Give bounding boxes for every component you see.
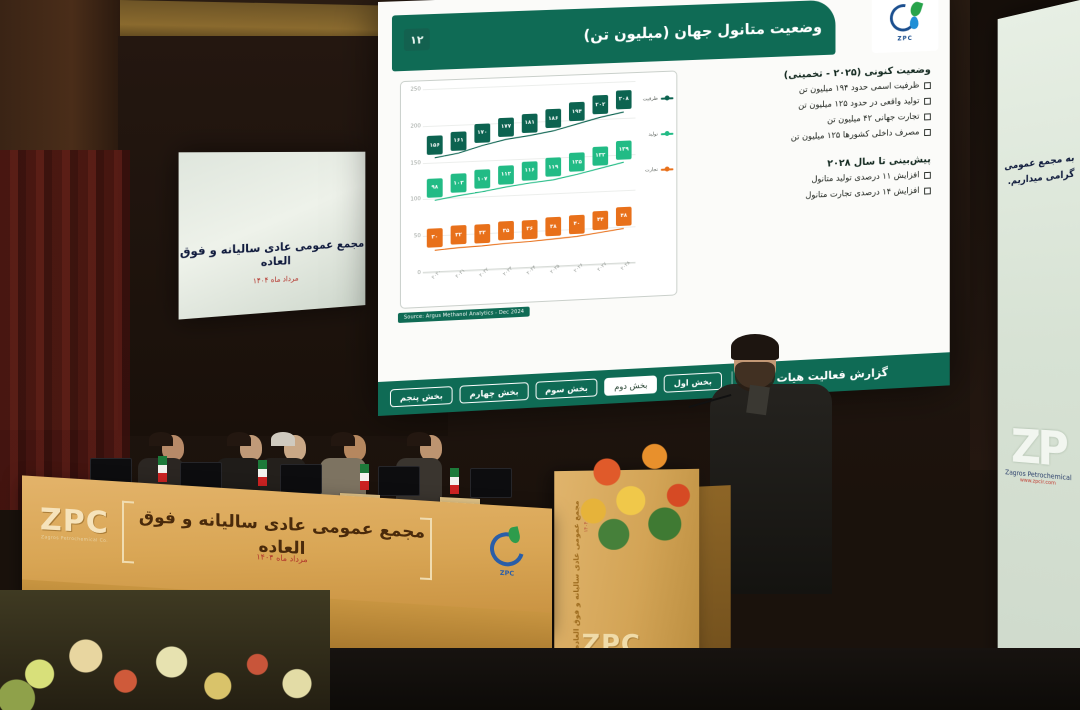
- desk-flag: [158, 456, 167, 482]
- chart-source-note: Source: Argus Methanol Analytics - Dec 2…: [398, 307, 530, 323]
- left-screen-title: مجمع عمومی عادی سالیانه و فوق العاده: [179, 236, 366, 274]
- bullet-text: تجارت جهانی ۴۲ میلیون تن: [827, 112, 919, 127]
- chart-data-label: ۱۸۶: [545, 109, 561, 128]
- chart-data-label: ۴۸: [616, 206, 632, 225]
- panel-monitor: [280, 464, 322, 494]
- chart-data-label: ۱۶۱: [451, 131, 467, 151]
- slide-title: وضعیت متانول جهان (میلیون تن): [584, 17, 823, 47]
- tab-4[interactable]: بخش دوم: [604, 375, 657, 396]
- chart-data-label: ۱۱۹: [545, 158, 561, 178]
- zpc-logo: ZPC: [872, 0, 939, 53]
- banner-logo-text: ZPC: [500, 569, 514, 578]
- legend-swatch-icon: [661, 133, 674, 136]
- chart-y-tick: 100: [401, 197, 421, 204]
- checkbox-icon: [924, 114, 931, 121]
- left-screen-date: مرداد ماه ۱۴۰۴: [179, 270, 366, 291]
- bullet-text: مصرف داخلی کشورها ۱۲۵ میلیون تن: [791, 128, 920, 145]
- chart-y-tick: 250: [401, 86, 421, 93]
- droplet-leaf-icon: [889, 1, 921, 35]
- bullet-text: افزایش ۱۴ درصدی تجارت متانول: [805, 186, 919, 202]
- chart-data-label: ۳۵: [498, 221, 514, 241]
- bullet-text: ظرفیت اسمی حدود ۱۹۴ میلیون تن: [799, 81, 919, 97]
- chart-legend: ظرفیتتولیدتجارت: [636, 95, 673, 174]
- chart-data-label: ۱۰۷: [474, 169, 490, 189]
- chart-data-label: ۱۲۵: [569, 152, 585, 171]
- right-projection-screen: به مجمع عمومی گرامی میداریم. ZP Zagros P…: [998, 0, 1080, 690]
- chart-gridline: [423, 81, 636, 90]
- chart-data-label: ۳۶: [522, 219, 538, 239]
- zp-wordmark: ZP: [1001, 425, 1076, 472]
- checkbox-icon: [924, 98, 931, 105]
- legend-label: ظرفیت: [643, 96, 658, 103]
- slide-bullet-list: وضعیت کنونی (۲۰۲۵ - تخمینی) ظرفیت اسمی ح…: [683, 65, 931, 213]
- conference-hall-scene: مجمع عمومی عادی سالیانه و فوق العاده مرد…: [0, 0, 1080, 710]
- tab-2[interactable]: بخش چهارم: [460, 382, 529, 404]
- checkbox-icon: [924, 172, 931, 179]
- chart-data-label: ۲۰۸: [616, 90, 632, 109]
- podium-flower-arrangement: [556, 420, 726, 550]
- speaker-collar: [746, 385, 770, 416]
- chart-y-tick: 50: [401, 233, 421, 240]
- slide-header-bar: وضعیت متانول جهان (میلیون تن): [392, 0, 836, 71]
- panel-monitor: [378, 466, 420, 496]
- chart-data-label: ۱۸۱: [522, 113, 538, 133]
- chart-data-label: ۳۳: [474, 224, 490, 244]
- desk-flag: [360, 464, 369, 490]
- slide-page-number: ۱۲: [404, 28, 430, 51]
- stage-flower-arrangement: [0, 590, 330, 710]
- chart-data-label: ۱۱۲: [498, 165, 514, 185]
- left-projection-screen: مجمع عمومی عادی سالیانه و فوق العاده مرد…: [179, 152, 366, 320]
- chart-data-label: ۱۷۷: [498, 117, 514, 137]
- chart-legend-item: ظرفیت: [636, 95, 673, 102]
- chart-data-label: ۱۵۶: [427, 136, 443, 156]
- right-screen-text: به مجمع عمومی گرامی میداریم.: [999, 151, 1074, 191]
- chart-data-label: ۱۷۰: [474, 123, 490, 143]
- chart-data-label: ۱۰۳: [451, 173, 467, 193]
- banner-zpc-logo: ZPC: [484, 531, 530, 588]
- chart-y-tick: 0: [401, 270, 421, 277]
- chart-data-label: ۱۹۴: [569, 102, 585, 121]
- chart-y-tick: 200: [401, 123, 421, 130]
- chart-data-label: ۱۱۶: [522, 161, 538, 181]
- legend-swatch-icon: [661, 168, 674, 171]
- chart-data-label: ۳۰: [427, 228, 443, 248]
- panel-monitor: [470, 468, 512, 498]
- tab-1[interactable]: بخش پنجم: [390, 386, 453, 407]
- chart-data-label: ۳۸: [545, 217, 561, 237]
- chart-plot-area: 050100150200250۱۵۶۱۶۱۱۷۰۱۷۷۱۸۱۱۸۶۱۹۴۲۰۲۲…: [423, 81, 636, 273]
- methanol-chart: 050100150200250۱۵۶۱۶۱۱۷۰۱۷۷۱۸۱۱۸۶۱۹۴۲۰۲۲…: [400, 70, 677, 308]
- legend-label: تجارت: [645, 167, 658, 173]
- chart-legend-item: تولید: [636, 131, 673, 138]
- chart-legend-item: تجارت: [636, 166, 673, 174]
- main-projection-screen: وضعیت متانول جهان (میلیون تن) ZPC ۱۲ 050…: [378, 0, 950, 416]
- legend-swatch-icon: [661, 97, 674, 100]
- chart-data-label: ۹۸: [427, 178, 443, 198]
- chart-y-tick: 150: [401, 160, 421, 167]
- bullet-text: افزایش ۱۱ درصدی تولید متانول: [811, 171, 919, 187]
- checkbox-icon: [924, 129, 931, 136]
- zpc-wordmark: ZPC: [897, 35, 912, 42]
- desk-flag: [450, 468, 459, 494]
- chart-data-label: ۳۲: [451, 225, 467, 245]
- desk-flag: [258, 460, 267, 486]
- chart-data-label: ۴۴: [592, 210, 608, 230]
- tab-3[interactable]: بخش سوم: [535, 378, 597, 399]
- right-screen-logo: ZP Zagros Petrochemical www.zpcir.com: [1001, 425, 1076, 488]
- chart-data-label: ۱۳۹: [616, 140, 632, 159]
- legend-label: تولید: [648, 131, 657, 137]
- bullet-text: تولید واقعی در حدود ۱۲۵ میلیون تن: [798, 96, 919, 112]
- chart-data-label: ۱۳۲: [592, 146, 608, 165]
- checkbox-icon: [924, 188, 931, 195]
- chart-data-label: ۲۰۲: [592, 95, 608, 114]
- chart-data-label: ۴۰: [569, 214, 585, 234]
- presentation-slide: وضعیت متانول جهان (میلیون تن) ZPC ۱۲ 050…: [378, 0, 950, 416]
- checkbox-icon: [924, 82, 931, 89]
- speaker-hair: [731, 334, 779, 360]
